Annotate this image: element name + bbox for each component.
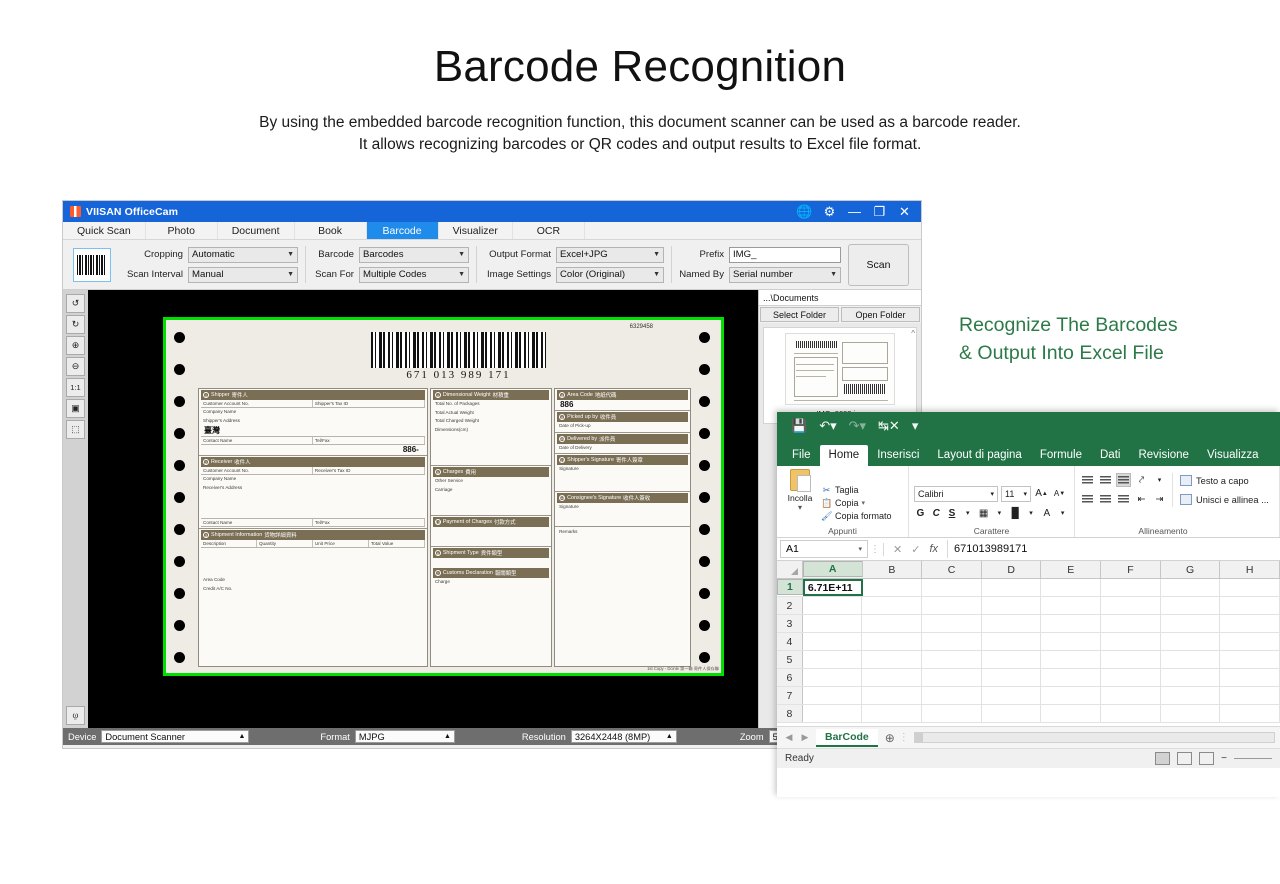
table-row: 2 [777, 597, 1280, 615]
chevron-down-icon: ▾ [858, 545, 862, 553]
column-header-c[interactable]: C [922, 561, 982, 578]
section-title: Delivered by [567, 436, 597, 442]
font-color-icon[interactable]: A [1040, 506, 1053, 521]
table-row: 8 [777, 705, 1280, 723]
formula-bar: A1 ▾ ⋮ ✕ ✓ fx 671013989171 [777, 538, 1280, 561]
row-header-8[interactable]: 8 [777, 705, 803, 722]
field-label: Quantity [257, 540, 313, 547]
section-title-cjk: 收件人簽收 [623, 494, 650, 502]
waybill-column-right: 8 Area Code 地紙代碼 886 9 Picked [554, 388, 691, 667]
underline-button[interactable]: S [946, 506, 959, 521]
tab-file[interactable]: File [783, 445, 820, 466]
save-icon[interactable]: 💾 [791, 418, 807, 434]
name-box[interactable]: A1 ▾ [780, 540, 868, 558]
redo-icon[interactable]: ↷▾ [849, 418, 866, 434]
cell-f3[interactable] [1101, 615, 1161, 632]
format-select[interactable]: MJPG ▲ [355, 730, 455, 743]
cell-e4[interactable] [1041, 633, 1101, 650]
cell-c4[interactable] [922, 633, 982, 650]
column-header-a[interactable]: A [803, 561, 863, 577]
field-label: Total Actual Weight [433, 409, 549, 418]
horizontal-scrollbar[interactable] [914, 732, 1275, 743]
output-path: ...\Documents [759, 290, 921, 306]
scanner-left-toolbar: ↺ ↻ ⊕ ⊖ 1:1 ▣ ⬚ ⍹ [63, 290, 88, 728]
close-icon[interactable]: ✕ [892, 201, 917, 222]
crop-settings-group: Cropping Automatic ▼ Scan Interval Manua… [119, 246, 306, 283]
annotation-callout: Recognize The Barcodes & Output Into Exc… [959, 311, 1279, 367]
folder-buttons: Select Folder Open Folder [759, 306, 921, 323]
chevron-down-icon: ▼ [458, 251, 465, 258]
paintbrush-icon: 🖌 [821, 511, 832, 522]
tab-dati[interactable]: Dati [1091, 445, 1129, 466]
stamp-icon[interactable]: ▣ [66, 399, 85, 418]
cropping-value: Automatic [192, 249, 283, 260]
row-header-6[interactable]: 6 [777, 669, 803, 686]
scanned-waybill-document: 6329458 671 013 989 171 1 Shipper [166, 320, 721, 673]
tab-revisione[interactable]: Revisione [1129, 445, 1198, 466]
section-title: Shipper [211, 392, 230, 398]
prefix-input[interactable]: IMG_ [729, 247, 841, 263]
cell-h8[interactable] [1220, 705, 1280, 722]
field-label: Tel/Fax [313, 519, 425, 526]
cropping-select[interactable]: Automatic ▼ [188, 247, 298, 263]
tab-document[interactable]: Document [218, 222, 295, 239]
field-label: Signature [557, 465, 688, 474]
section-title-cjk: 地紙代碼 [595, 391, 617, 399]
field-label: Receiver's Address [201, 484, 425, 493]
scanner-mode-tabs: Quick Scan Photo Document Book Barcode V… [63, 222, 921, 240]
scanner-toolbar: Cropping Automatic ▼ Scan Interval Manua… [63, 240, 921, 290]
chevron-up-icon: ▲ [238, 733, 245, 740]
borders-icon[interactable]: ▦ [977, 506, 990, 521]
ribbon-group-alignment: ⤤ ▾ ⇤ ⇥ Te [1075, 466, 1280, 537]
increase-indent-button[interactable]: ⇥ [1152, 492, 1167, 506]
rotate-left-icon[interactable]: ↺ [66, 294, 85, 313]
zoom-in-icon[interactable]: ⊕ [66, 336, 85, 355]
cell-f1[interactable] [1101, 579, 1161, 596]
chevron-down-icon: ▾ [990, 490, 994, 498]
cell-a7[interactable] [803, 687, 863, 704]
cell-g3[interactable] [1161, 615, 1221, 632]
field-label: Remarks [557, 528, 688, 537]
zoom-out-icon[interactable]: − [1221, 753, 1227, 764]
cell-h6[interactable] [1220, 669, 1280, 686]
zoom-out-icon[interactable]: ⊖ [66, 357, 85, 376]
barcode-settings-group: Barcode Barcodes ▼ Scan For Multiple Cod… [306, 246, 477, 283]
table-row: 4 [777, 633, 1280, 651]
cell-b4[interactable] [862, 633, 922, 650]
cell-g2[interactable] [1161, 597, 1221, 614]
increase-font-size-button[interactable]: A▲ [1034, 486, 1049, 501]
cut-button[interactable]: ✂ Taglia [821, 485, 892, 496]
excel-status-bar: Ready − [777, 748, 1280, 768]
cell-f4[interactable] [1101, 633, 1161, 650]
section-title-cjk: 收件員 [600, 413, 616, 421]
tab-ocr[interactable]: OCR [513, 222, 585, 239]
format-painter-button[interactable]: 🖌 Copia formato [821, 511, 892, 522]
waybill-column-middle: 4 Dimensional Weight 材積重 Total No. of Pa… [430, 388, 552, 667]
font-size-select[interactable]: 11 ▾ [1001, 486, 1031, 502]
cell-h4[interactable] [1220, 633, 1280, 650]
align-middle-button[interactable] [1098, 473, 1113, 487]
section-number: 7 [435, 570, 441, 576]
restore-icon[interactable]: ❐ [867, 201, 892, 222]
subtitle-line-2: It allows recognizing barcodes or QR cod… [0, 134, 1280, 156]
app-logo-icon [70, 206, 81, 217]
table-row: 1 6.71E+11 [777, 579, 1280, 597]
image-settings-value: Color (Original) [560, 269, 649, 280]
section-title: Receiver [211, 459, 232, 465]
format-value: MJPG [359, 732, 444, 742]
scanner-device-icon[interactable]: ⍹ [66, 706, 85, 725]
cell-b1[interactable] [863, 579, 923, 596]
cell-g5[interactable] [1161, 651, 1221, 668]
field-label: Date of Pick-up [557, 422, 688, 431]
scan-interval-label: Scan Interval [126, 269, 188, 280]
select-all-corner[interactable] [777, 561, 803, 578]
row-header-5[interactable]: 5 [777, 651, 803, 668]
cell-f6[interactable] [1101, 669, 1161, 686]
waybill-top-number: 6329458 [630, 324, 653, 330]
actual-size-icon[interactable]: 1:1 [66, 378, 85, 397]
name-box-value: A1 [786, 543, 858, 555]
clipboard-group-label: Appunti [777, 526, 908, 536]
named-by-value: Serial number [733, 269, 826, 280]
row-header-7[interactable]: 7 [777, 687, 803, 704]
bold-button[interactable]: G [914, 506, 927, 521]
cell-f2[interactable] [1101, 597, 1161, 614]
undo-icon[interactable]: ↶▾ [819, 418, 836, 434]
spreadsheet-grid[interactable]: A B C D E F G H 1 6.71E+11 2 [777, 561, 1280, 726]
field-label: Signature [557, 503, 688, 512]
section-title-cjk: 費用 [465, 468, 476, 476]
field-label: Carriage [433, 486, 549, 495]
field-label: Credit A/C No. [201, 585, 425, 594]
field-label: Shipper's Tax ID [313, 400, 425, 407]
resolution-value: 3264X2448 (8MP) [575, 732, 666, 742]
section-title-cjk: 派件員 [599, 435, 615, 443]
cell-e3[interactable] [1041, 615, 1101, 632]
row-header-3[interactable]: 3 [777, 615, 803, 632]
scan-button[interactable]: Scan [848, 244, 909, 286]
customize-qat-icon[interactable]: ▾ [912, 418, 919, 434]
copy-button[interactable]: 📋 Copia ▾ [821, 498, 892, 509]
merge-center-label: Unisci e allinea ... [1196, 495, 1269, 505]
cell-h7[interactable] [1220, 687, 1280, 704]
section-title: Charges [443, 469, 463, 475]
field-label: Customer Account No. [201, 400, 313, 407]
cell-h3[interactable] [1220, 615, 1280, 632]
add-sheet-icon[interactable]: ⊕ [881, 731, 899, 745]
image-settings-select[interactable]: Color (Original) ▼ [556, 267, 664, 283]
excel-ribbon: Incolla ▾ ✂ Taglia 📋 Copia ▾ [777, 466, 1280, 538]
cell-g7[interactable] [1161, 687, 1221, 704]
cell-b2[interactable] [862, 597, 922, 614]
section-number: 3 [203, 532, 209, 538]
table-row: 5 [777, 651, 1280, 669]
page-break-icon[interactable] [1199, 752, 1214, 765]
excel-window: 💾 ↶▾ ↷▾ ↹✕ ▾ File Home Inserisci Layout … [777, 412, 1280, 797]
chevron-down-icon[interactable]: ▾ [961, 506, 974, 521]
row-header-2[interactable]: 2 [777, 597, 803, 614]
grow-font-label: A [1035, 488, 1042, 499]
scroll-up-icon[interactable]: ^ [911, 329, 915, 338]
waybill-form-grid: 1 Shipper 寄件人 Customer Account No. Shipp… [198, 388, 691, 667]
field-label: Dimensions(cm) [433, 426, 549, 435]
decrease-font-size-button[interactable]: A▼ [1052, 486, 1067, 501]
cell-e5[interactable] [1041, 651, 1101, 668]
section-number: 13 [435, 519, 441, 525]
field-label: Unit Price [313, 540, 369, 547]
cell-d3[interactable] [982, 615, 1042, 632]
cell-c8[interactable] [922, 705, 982, 722]
cell-c1[interactable] [922, 579, 982, 596]
device-select[interactable]: Document Scanner ▲ [101, 730, 249, 743]
column-header-g[interactable]: G [1161, 561, 1221, 578]
cell-d5[interactable] [982, 651, 1042, 668]
scan-preview-area[interactable]: 6329458 671 013 989 171 1 Shipper [88, 290, 758, 728]
tab-visualizza[interactable]: Visualizza [1198, 445, 1268, 466]
section-title-cjk: 收件人 [234, 458, 250, 466]
merge-center-button[interactable]: Unisci e allinea ... [1180, 492, 1269, 507]
cropping-label: Cropping [126, 249, 188, 260]
cell-b7[interactable] [862, 687, 922, 704]
prefix-value: IMG_ [733, 249, 756, 260]
column-header-h[interactable]: H [1220, 561, 1280, 578]
annotation-line-1: Recognize The Barcodes [959, 311, 1279, 339]
field-label: Tel/Fax [313, 437, 425, 444]
named-by-label: Named By [679, 269, 729, 280]
cell-b8[interactable] [862, 705, 922, 722]
chevron-down-icon: ▾ [1023, 490, 1027, 498]
cell-a4[interactable] [803, 633, 863, 650]
section-number: 1 [203, 392, 209, 398]
orientation-icon[interactable]: ⤤ [1134, 473, 1149, 487]
field-label: Contact Name [201, 437, 313, 444]
select-folder-button[interactable]: Select Folder [760, 307, 839, 322]
tab-photo[interactable]: Photo [146, 222, 218, 239]
tab-layout-di-pagina[interactable]: Layout di pagina [928, 445, 1030, 466]
annotation-line-2: & Output Into Excel File [959, 339, 1279, 367]
tab-inserisci[interactable]: Inserisci [868, 445, 928, 466]
thumbnail-item[interactable]: IMG_0002.jpg [763, 327, 917, 424]
sheet-tab-barcode[interactable]: BarCode [816, 729, 878, 747]
column-header-e[interactable]: E [1041, 561, 1101, 578]
cell-d2[interactable] [982, 597, 1042, 614]
table-row: 7 [777, 687, 1280, 705]
scanner-window-title: VIISAN OfficeCam [86, 206, 178, 218]
cell-d4[interactable] [982, 633, 1042, 650]
output-format-value: Excel+JPG [560, 249, 649, 260]
subtitle-line-1: By using the embedded barcode recognitio… [0, 112, 1280, 134]
section-title-cjk: 寄件人簽章 [616, 456, 643, 464]
page-title: Barcode Recognition [0, 42, 1280, 92]
open-folder-button[interactable]: Open Folder [841, 307, 920, 322]
sort-icon[interactable]: ↹✕ [878, 418, 900, 434]
tel-value: 886- [201, 445, 425, 454]
cell-a1[interactable]: 6.71E+11 [803, 579, 863, 596]
cell-e7[interactable] [1041, 687, 1101, 704]
next-sheet-icon[interactable]: ▶ [797, 732, 813, 743]
tab-book[interactable]: Book [295, 222, 367, 239]
decrease-indent-button[interactable]: ⇤ [1134, 492, 1149, 506]
resolution-label: Resolution [517, 732, 571, 742]
tab-home[interactable]: Home [820, 445, 869, 466]
named-by-select[interactable]: Serial number ▼ [729, 267, 841, 283]
section-number: 4 [435, 392, 441, 398]
cell-f7[interactable] [1101, 687, 1161, 704]
ribbon-group-clipboard: Incolla ▾ ✂ Taglia 📋 Copia ▾ [777, 466, 909, 537]
cell-a8[interactable] [803, 705, 863, 722]
cell-c3[interactable] [922, 615, 982, 632]
field-label: Total No. of Packages [433, 400, 549, 409]
globe-icon[interactable]: 🌐 [792, 201, 817, 222]
cell-g6[interactable] [1161, 669, 1221, 686]
column-header-d[interactable]: D [982, 561, 1042, 578]
section-title: Shipment Information [211, 532, 262, 538]
gear-icon[interactable]: ⚙ [817, 201, 842, 222]
column-header-f[interactable]: F [1101, 561, 1161, 578]
cell-h1[interactable] [1220, 579, 1280, 596]
cell-b6[interactable] [862, 669, 922, 686]
cell-a2[interactable] [803, 597, 863, 614]
font-size-value: 11 [1005, 489, 1023, 499]
field-label: Receiver's Tax ID [313, 467, 425, 474]
cell-b5[interactable] [862, 651, 922, 668]
section-title-cjk: 寄件人 [232, 391, 248, 399]
page-layout-icon[interactable] [1177, 752, 1192, 765]
chevron-down-icon: ▼ [653, 271, 660, 278]
wrap-text-button[interactable]: Testo a capo [1180, 473, 1269, 488]
minimize-icon[interactable]: — [842, 201, 867, 222]
zoom-slider[interactable] [1234, 758, 1272, 759]
normal-view-icon[interactable] [1155, 752, 1170, 765]
scan-interval-select[interactable]: Manual ▼ [188, 267, 298, 283]
column-header-b[interactable]: B [863, 561, 923, 578]
previous-sheet-icon[interactable]: ◀ [781, 732, 797, 743]
chevron-down-icon[interactable]: ▾ [1025, 506, 1038, 521]
chevron-down-icon[interactable]: ▾ [862, 499, 866, 507]
chevron-down-icon[interactable]: ▾ [1152, 473, 1167, 487]
section-title-cjk: 货物詳細資料 [264, 531, 296, 539]
sheet-tab-bar: ◀ ▶ BarCode ⊕ ⋮ [777, 726, 1280, 748]
rotate-right-icon[interactable]: ↻ [66, 315, 85, 334]
cell-e2[interactable] [1041, 597, 1101, 614]
cell-d7[interactable] [982, 687, 1042, 704]
cell-d6[interactable] [982, 669, 1042, 686]
cell-a6[interactable] [803, 669, 863, 686]
align-top-button[interactable] [1080, 473, 1095, 487]
cell-h2[interactable] [1220, 597, 1280, 614]
section-title: Shipment Type [443, 550, 479, 556]
barcode-bars-icon [371, 332, 546, 368]
field-label: Other Service [433, 477, 549, 486]
field-label: Total Value [369, 540, 425, 547]
alignment-group-label: Allineamento [1047, 526, 1279, 536]
cell-e1[interactable] [1041, 579, 1101, 596]
cell-d1[interactable] [982, 579, 1042, 596]
cell-g1[interactable] [1161, 579, 1221, 596]
section-title: Customs Declaration [443, 570, 493, 576]
cell-g4[interactable] [1161, 633, 1221, 650]
document-barcode: 671 013 989 171 [371, 332, 546, 384]
naming-settings-group: Prefix IMG_ Named By Serial number ▼ [672, 246, 848, 283]
font-name-select[interactable]: Calibri ▾ [914, 486, 998, 502]
excel-ribbon-tabs: File Home Inserisci Layout di pagina For… [777, 440, 1280, 466]
resolution-select[interactable]: 3264X2448 (8MP) ▲ [571, 730, 677, 743]
cell-h5[interactable] [1220, 651, 1280, 668]
tab-quick-scan[interactable]: Quick Scan [63, 222, 146, 239]
cell-c7[interactable] [922, 687, 982, 704]
tab-formule[interactable]: Formule [1031, 445, 1091, 466]
merge-cells-icon [1180, 494, 1192, 505]
formula-input[interactable]: 671013989171 [947, 540, 1280, 558]
cell-f8[interactable] [1101, 705, 1161, 722]
insert-function-icon[interactable]: fx [929, 543, 938, 556]
chevron-down-icon: ▼ [830, 271, 837, 278]
chevron-down-icon: ▼ [287, 271, 294, 278]
section-number: 12 [559, 495, 565, 501]
cell-b3[interactable] [862, 615, 922, 632]
align-center-button[interactable] [1098, 492, 1113, 506]
chevron-down-icon: ▼ [653, 251, 660, 258]
barcode-label: Barcode [313, 249, 359, 260]
cell-f5[interactable] [1101, 651, 1161, 668]
row-header-1[interactable]: 1 [777, 579, 803, 595]
tab-visualizer[interactable]: Visualizer [439, 222, 513, 239]
cell-a3[interactable] [803, 615, 863, 632]
chevron-down-icon[interactable]: ▾ [993, 506, 1006, 521]
section-number: 10 [559, 436, 565, 442]
cell-d8[interactable] [982, 705, 1042, 722]
chevron-down-icon[interactable]: ▾ [1056, 506, 1069, 521]
chevron-up-icon: ▲ [444, 733, 451, 740]
align-bottom-button[interactable] [1116, 473, 1131, 487]
field-label: Area Code [201, 576, 425, 585]
cell-c6[interactable] [922, 669, 982, 686]
field-label: Shipper's Address [201, 417, 425, 426]
section-number: 9 [559, 414, 565, 420]
status-text: Ready [785, 753, 814, 764]
cell-a5[interactable] [803, 651, 863, 668]
cell-c5[interactable] [922, 651, 982, 668]
accept-icon[interactable]: ✓ [911, 543, 920, 556]
tab-barcode[interactable]: Barcode [367, 222, 439, 239]
cut-label: Taglia [835, 485, 859, 495]
zoom-label: Zoom [735, 732, 769, 742]
fill-color-icon[interactable]: █ [1009, 506, 1022, 521]
row-header-4[interactable]: 4 [777, 633, 803, 650]
chevron-down-icon[interactable]: ▾ [798, 503, 802, 512]
scan-for-select[interactable]: Multiple Codes ▼ [359, 267, 469, 283]
cell-c2[interactable] [922, 597, 982, 614]
fit-screen-icon[interactable]: ⬚ [66, 420, 85, 439]
detected-document-region: 6329458 671 013 989 171 1 Shipper [163, 317, 724, 676]
barcode-select[interactable]: Barcodes ▼ [359, 247, 469, 263]
align-right-button[interactable] [1116, 492, 1131, 506]
device-value: Document Scanner [105, 732, 238, 742]
cell-e6[interactable] [1041, 669, 1101, 686]
align-left-button[interactable] [1080, 492, 1095, 506]
cancel-icon[interactable]: ✕ [893, 543, 902, 556]
chevron-up-icon: ▲ [666, 733, 673, 740]
italic-button[interactable]: C [930, 506, 943, 521]
output-format-select[interactable]: Excel+JPG ▼ [556, 247, 664, 263]
section-title: Area Code [567, 392, 593, 398]
cell-e8[interactable] [1041, 705, 1101, 722]
waybill-footer-note: 1st Copy - Dcinle 第一聯 寄件人保存聯 [647, 666, 719, 672]
cell-g8[interactable] [1161, 705, 1221, 722]
